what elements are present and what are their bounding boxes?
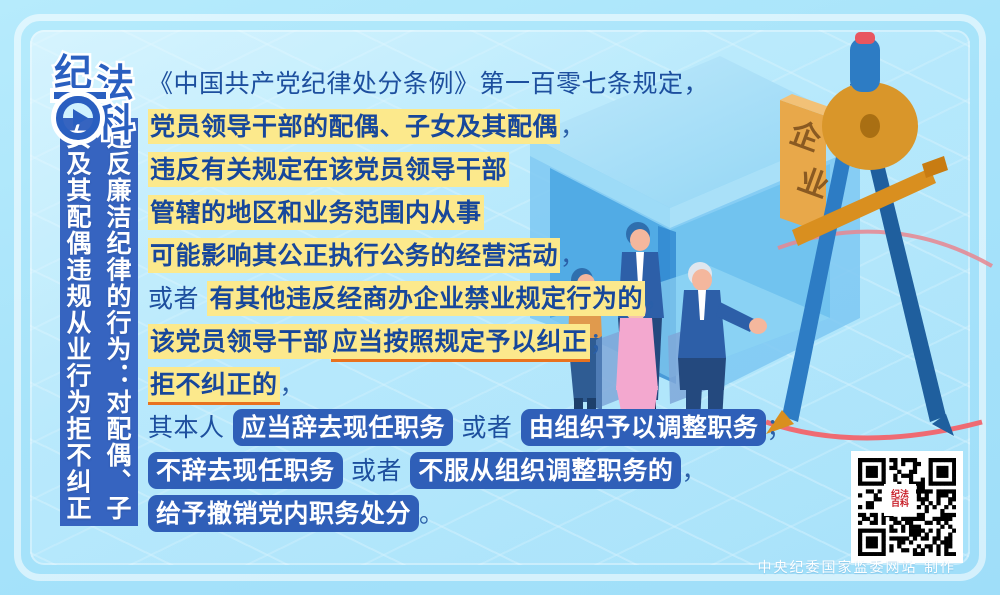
text-segment-punct: ， bbox=[280, 370, 306, 399]
logo-char-ke: 科 bbox=[96, 104, 134, 142]
text-segment-plain: 或者 bbox=[453, 413, 521, 442]
play-triangle-icon bbox=[73, 109, 88, 127]
text-segment-highlight-underline: 应当按照规定予以纠正 bbox=[331, 324, 590, 362]
text-segment-punct: 。 bbox=[419, 499, 445, 528]
text-segment-punct: ， bbox=[681, 456, 707, 485]
text-segment-highlight: 党员领导干部的配偶、子女及其配偶 bbox=[148, 109, 560, 144]
vertical-title-bar: 违反廉洁纪律的行为：对配偶、子 女及其配偶违规从业行为拒不纠正 bbox=[60, 118, 138, 526]
text-line: 不辞去现任职务 或者 不服从组织调整职务的， bbox=[148, 449, 768, 492]
qr-code[interactable]: 纪法百科 bbox=[851, 451, 963, 563]
logo-char-ji: 纪 bbox=[54, 54, 92, 92]
text-line: 《中国共产党纪律处分条例》第一百零七条规定， bbox=[148, 62, 768, 105]
text-line: 或者 有其他违反经商办企业禁业规定行为的， bbox=[148, 277, 768, 320]
text-segment-plain: 其本人 bbox=[148, 413, 233, 442]
text-segment-plain: 《中国共产党纪律处分条例》第一百零七条规定， bbox=[148, 69, 709, 98]
text-segment-pill: 不辞去现任职务 bbox=[148, 452, 343, 489]
text-line: 给予撤销党内职务处分。 bbox=[148, 492, 768, 535]
text-segment-highlight: 违反有关规定在该党员领导干部 bbox=[148, 152, 509, 187]
brand-logo: 纪 法 科 bbox=[52, 52, 144, 148]
text-line: 拒不纠正的， bbox=[148, 363, 768, 406]
qr-center-logo: 纪法百科 bbox=[884, 484, 916, 516]
text-line: 可能影响其公正执行公务的经营活动， bbox=[148, 234, 768, 277]
text-segment-punct: ， bbox=[560, 241, 586, 270]
text-segment-punct: ； bbox=[590, 327, 616, 356]
text-segment-highlight: 有其他违反经商办企业禁业规定行为的 bbox=[207, 281, 645, 316]
text-line: 党员领导干部的配偶、子女及其配偶， bbox=[148, 105, 768, 148]
text-line: 该党员领导干部应当按照规定予以纠正； bbox=[148, 320, 768, 363]
text-segment-pill: 给予撤销党内职务处分 bbox=[148, 495, 419, 532]
text-segment-highlight: 可能影响其公正执行公务的经营活动 bbox=[148, 238, 560, 273]
text-segment-plain: 或者 bbox=[148, 284, 207, 313]
footer-credit: 中央纪委国家监委网站 制作 bbox=[758, 557, 956, 577]
vertical-title-column-right: 违反廉洁纪律的行为：对配偶、子 bbox=[98, 118, 136, 526]
text-segment-highlight: 管辖的地区和业务范围内从事 bbox=[148, 195, 484, 230]
text-segment-punct: ； bbox=[766, 413, 792, 442]
text-segment-punct: ， bbox=[645, 284, 671, 313]
text-segment-punct: ， bbox=[560, 112, 586, 141]
text-line: 管辖的地区和业务范围内从事 bbox=[148, 191, 768, 234]
text-line: 其本人 应当辞去现任职务 或者 由组织予以调整职务； bbox=[148, 406, 768, 449]
qr-center-logo-label: 纪法百科 bbox=[887, 491, 913, 509]
text-segment-highlight-underline: 拒不纠正的 bbox=[148, 367, 280, 405]
vertical-title-column-left: 女及其配偶违规从业行为拒不纠正 bbox=[58, 118, 96, 526]
regulation-text-block: 《中国共产党纪律处分条例》第一百零七条规定，党员领导干部的配偶、子女及其配偶，违… bbox=[148, 62, 768, 535]
text-segment-highlight: 该党员领导干部 bbox=[148, 324, 331, 359]
poster-root: 企 业 bbox=[0, 0, 1000, 595]
text-segment-pill: 不服从组织调整职务的 bbox=[410, 452, 681, 489]
text-segment-pill: 由组织予以调整职务 bbox=[521, 409, 767, 446]
text-segment-plain: 或者 bbox=[343, 456, 411, 485]
text-segment-pill: 应当辞去现任职务 bbox=[233, 409, 453, 446]
text-line: 违反有关规定在该党员领导干部 bbox=[148, 148, 768, 191]
